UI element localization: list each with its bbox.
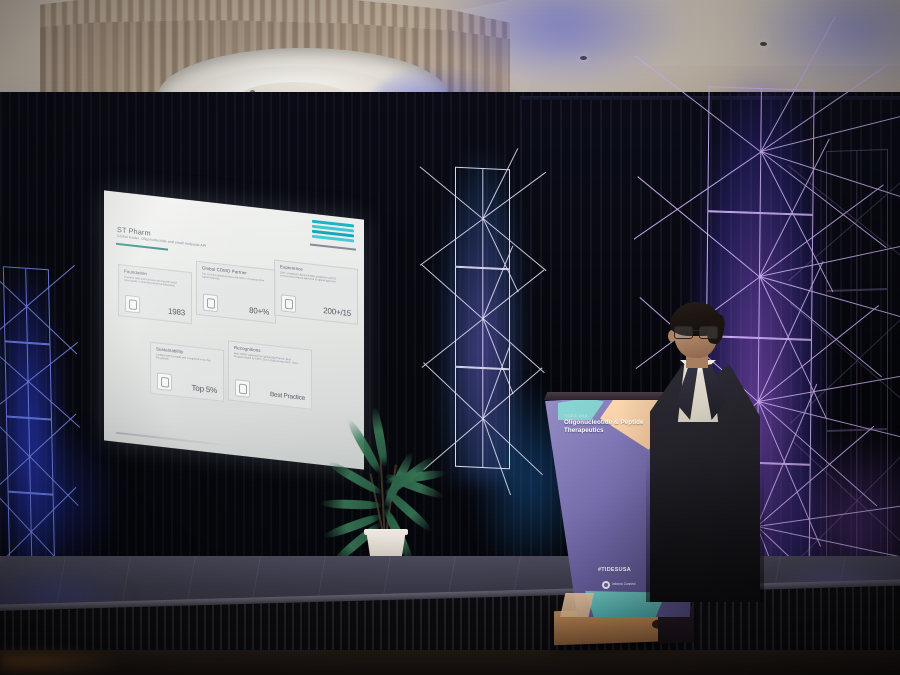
card-value: Top 5% — [192, 383, 217, 395]
slide-card-global-cdmo-partner: Global CDMO Partner Top 10 of the global… — [196, 261, 276, 324]
building-icon — [125, 295, 140, 314]
podium-event-name: Oligonucleotide & Peptide Therapeutics — [564, 419, 656, 434]
st-pharm-teal-bars-logo — [312, 220, 354, 247]
card-value: Best Practice — [270, 391, 305, 403]
podium-hashtag: #TIDESUSA — [598, 567, 631, 573]
truss-panel — [826, 429, 888, 571]
card-body: Founded 1983 and has been serving with w… — [124, 276, 182, 289]
flask-icon — [281, 294, 296, 313]
card-body: Best CDMO awarded from global Big Pharma… — [234, 352, 300, 366]
potted-palm-plant — [330, 392, 450, 572]
card-body: Certified with Ecovadis and recognized i… — [156, 353, 214, 366]
card-value: 80+% — [249, 306, 269, 317]
speaker — [646, 302, 764, 602]
plant-frond — [320, 499, 382, 510]
projection-screen: ST Pharm Global leader, Oligonucleotide … — [104, 190, 364, 469]
truss-panel — [6, 416, 54, 494]
card-value: 200+/15 — [323, 306, 351, 318]
downlight-icon — [760, 42, 767, 46]
glasses-icon — [674, 326, 718, 337]
conference-stage-photo: ST Pharm Global leader, Oligonucleotide … — [0, 0, 900, 675]
slide-card-foundation: Foundation Founded 1983 and has been ser… — [118, 264, 192, 324]
slide-card-recognitions: Recognitions Best CDMO awarded from glob… — [228, 340, 312, 409]
podium-eyebrow: TIDES USA — [564, 414, 656, 418]
card-value: 1983 — [168, 307, 185, 318]
logo-mark-icon — [602, 581, 610, 589]
slide-content: ST Pharm Global leader, Oligonucleotide … — [104, 190, 364, 469]
floor-warm-light — [0, 648, 120, 675]
truss-panel — [3, 266, 51, 344]
truss-panel — [455, 167, 510, 270]
truss-panel — [4, 341, 52, 419]
truss-panel — [455, 367, 510, 469]
podium-branding: TIDES USA Oligonucleotide & Peptide Ther… — [564, 414, 656, 434]
truss-tower-left — [3, 266, 55, 570]
ballroom-floor — [0, 650, 900, 675]
truss-panel — [826, 149, 888, 291]
informa-connect-logo: Informa Connect — [602, 581, 636, 589]
speaker-shadow — [646, 452, 764, 602]
truss-panel — [455, 267, 510, 369]
downlight-icon — [580, 56, 587, 60]
slide-card-experience: Experience 200+ completed oligonucleotid… — [274, 259, 358, 324]
card-body: 200+ completed oligonucleotide productio… — [280, 271, 346, 285]
card-body: Top 10 of the global partners with 80%+ … — [202, 272, 264, 286]
truss-tower-far-right — [826, 149, 888, 571]
award-icon — [235, 379, 250, 398]
truss-tower-middle — [455, 167, 510, 469]
logo-text: Informa Connect — [612, 583, 636, 587]
truss-panel — [826, 289, 888, 431]
leaf-icon — [157, 372, 172, 391]
globe-icon — [203, 294, 218, 313]
slide-accent-rule — [116, 243, 168, 250]
slide-card-sustainability: Sustainability Certified with Ecovadis a… — [150, 342, 224, 402]
